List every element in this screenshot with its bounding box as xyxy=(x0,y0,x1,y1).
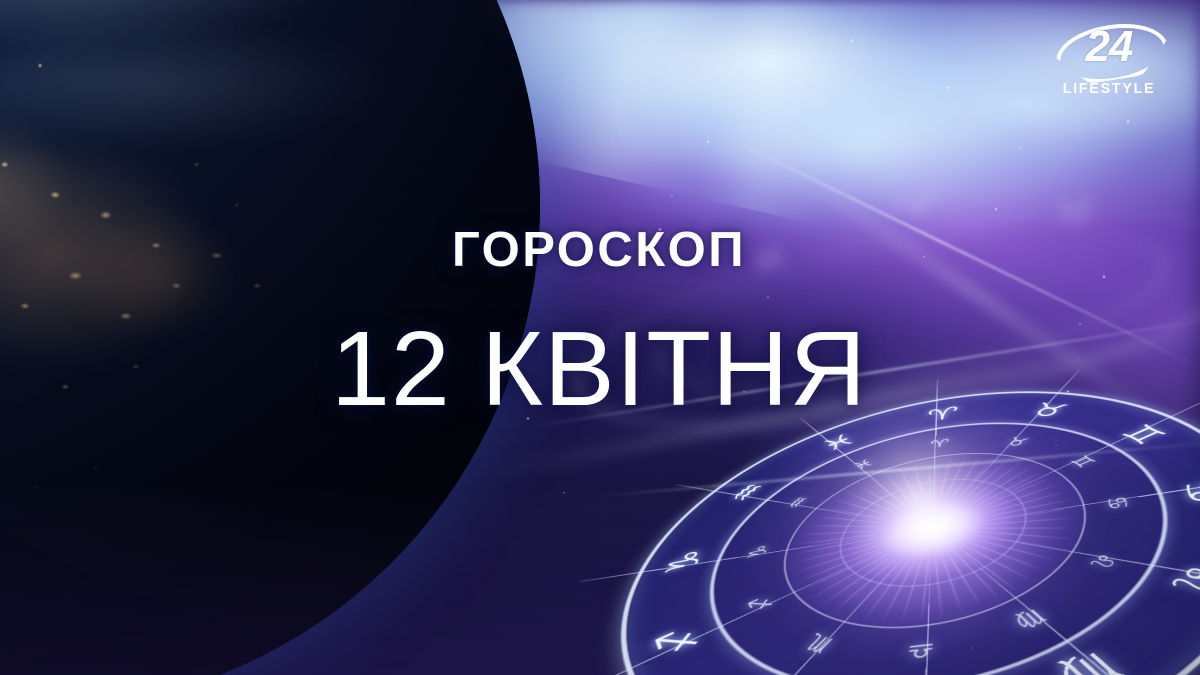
logo-wordmark: LIFESTYLE xyxy=(1050,81,1168,97)
horoscope-banner: ♓♈♉ ♓♈♉♊♋♌♍♎♏♐♑♒ ♓♈♉♊♋♌♍♎♏♐♑♒ ГОРОСКОП 1… xyxy=(0,0,1200,675)
logo-mark: 24 xyxy=(1050,22,1168,80)
channel-logo[interactable]: 24 LIFESTYLE xyxy=(1050,22,1168,106)
zodiac-glyph-aries-inner: ♈ xyxy=(930,437,950,450)
zodiac-glyph-aries: ♈ xyxy=(926,404,959,425)
zodiac-wheel-plane: ♓♈♉♊♋♌♍♎♏♐♑♒ ♓♈♉♊♋♌♍♎♏♐♑♒ xyxy=(523,373,1200,675)
logo-number: 24 xyxy=(1050,24,1168,70)
